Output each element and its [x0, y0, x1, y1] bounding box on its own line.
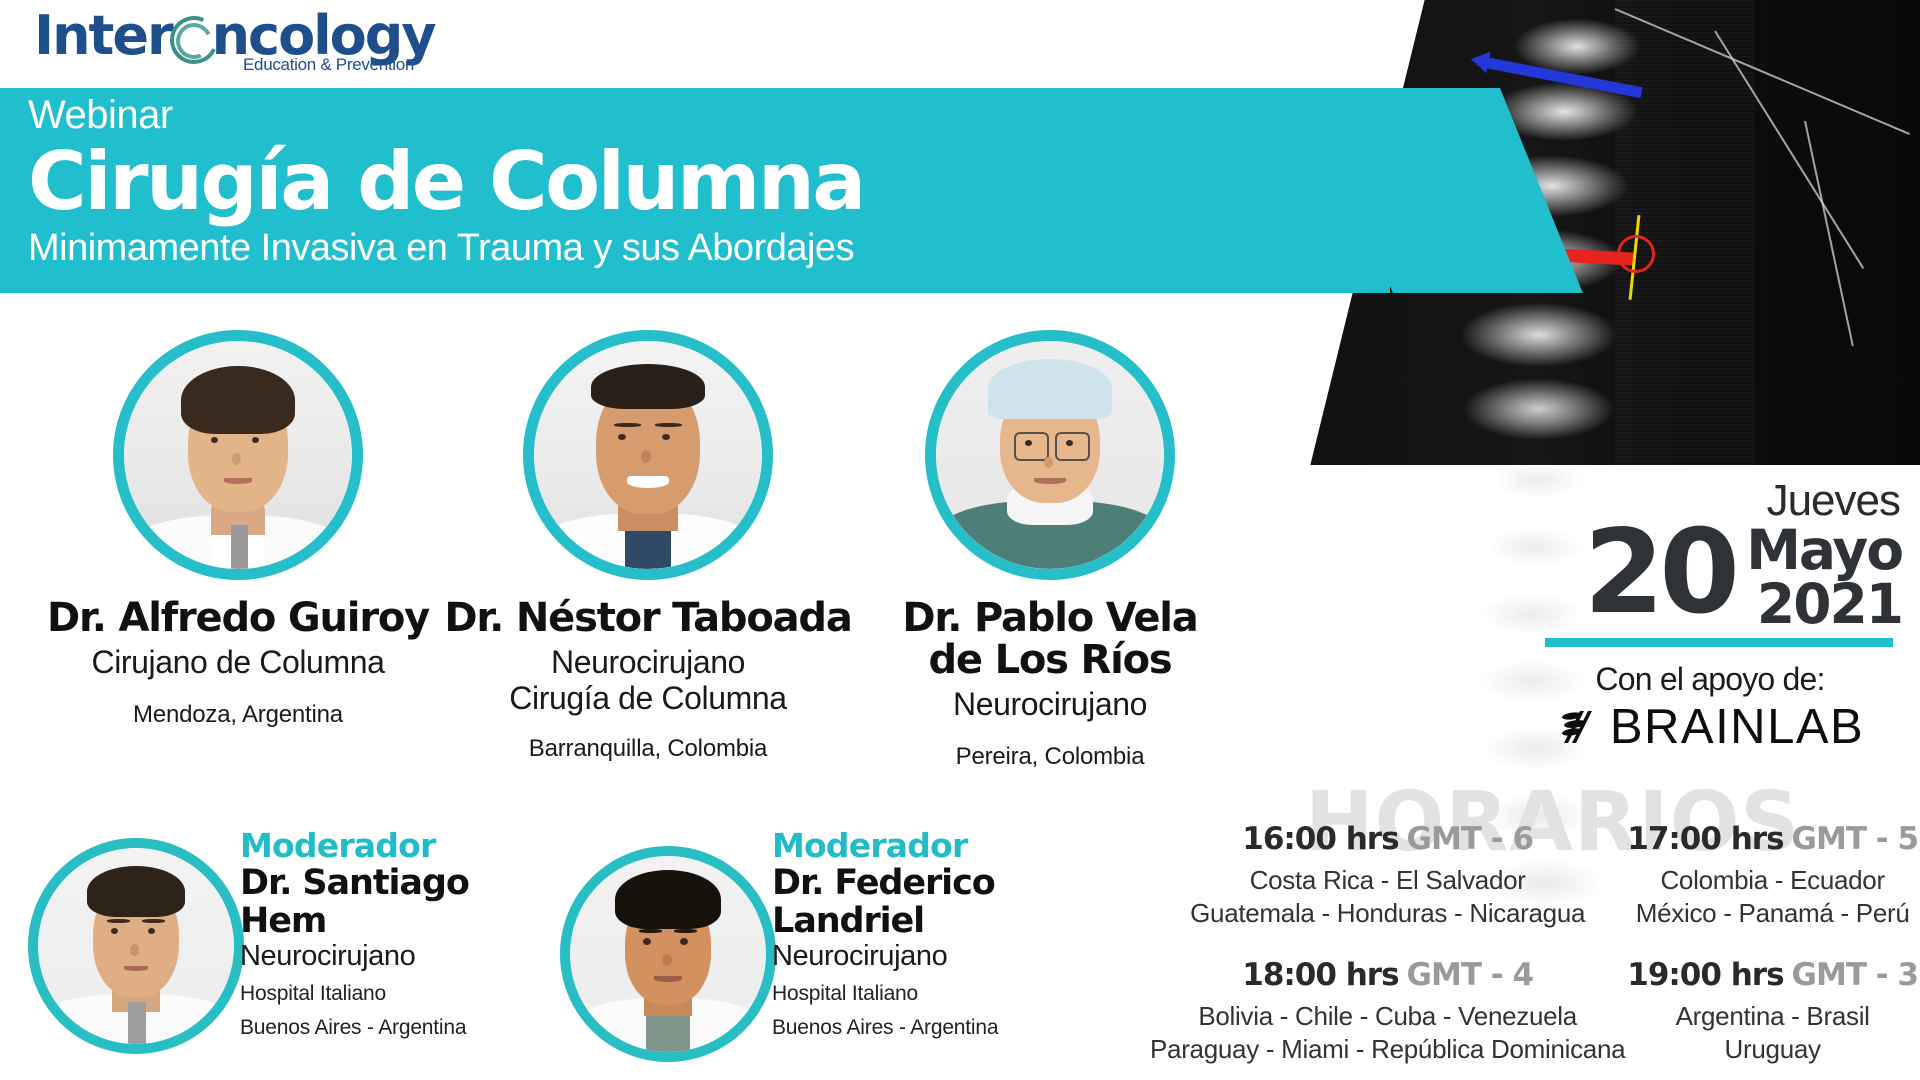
- schedule-countries-line1: Costa Rica - El Salvador: [1150, 864, 1625, 897]
- brainlab-mark-icon: [1556, 709, 1598, 745]
- schedule-time: 19:00 hrs: [1627, 957, 1783, 993]
- schedule-entry: 16:00 hrsGMT - 6 Costa Rica - El Salvado…: [1150, 820, 1625, 930]
- schedule-time: 16:00 hrs: [1242, 821, 1398, 857]
- schedule-countries-line1: Bolivia - Chile - Cuba - Venezuela: [1150, 1000, 1625, 1033]
- webinar-subtitle: Minimamente Invasiva en Trauma y sus Abo…: [28, 226, 864, 270]
- schedule-time-row: 16:00 hrsGMT - 6: [1150, 820, 1625, 864]
- schedule-countries-line2: Paraguay - Miami - República Dominicana: [1150, 1033, 1625, 1066]
- schedule-time-row: 19:00 hrsGMT - 3: [1625, 956, 1920, 1000]
- avatar-photo: [936, 341, 1164, 569]
- moderator-1-label: Moderador: [240, 828, 548, 864]
- moderator-1-name: Dr. Santiago Hem: [240, 864, 548, 940]
- speaker-card-2: Dr. Néstor Taboada Neurocirujano Cirugía…: [428, 330, 868, 763]
- schedule-grid: 16:00 hrsGMT - 6 Costa Rica - El Salvado…: [1150, 820, 1920, 1066]
- speaker-3-avatar: [925, 330, 1175, 580]
- speaker-3-role: Neurocirujano: [840, 687, 1260, 723]
- schedule-entry: 18:00 hrsGMT - 4 Bolivia - Chile - Cuba …: [1150, 956, 1625, 1066]
- brainlab-wordmark: BRAINLAB: [1610, 702, 1864, 752]
- schedule-time: 17:00 hrs: [1627, 821, 1783, 857]
- speaker-2-name: Dr. Néstor Taboada: [428, 597, 868, 639]
- moderator-1-hospital: Hospital Italiano: [240, 979, 548, 1009]
- speaker-3-name-line1: Dr. Pablo Vela: [840, 597, 1260, 639]
- speaker-2-role-2: Cirugía de Columna: [428, 681, 868, 717]
- sponsor-label: Con el apoyo de:: [1500, 660, 1920, 698]
- schedule-countries-line2: México - Panamá - Perú: [1625, 897, 1920, 930]
- logo-tagline: Education & Prevention: [243, 55, 414, 75]
- speaker-2-role-1: Neurocirujano: [428, 645, 868, 681]
- date-day: 20: [1584, 518, 1735, 628]
- moderator-1-avatar: [28, 838, 244, 1054]
- date-year: 2021: [1757, 576, 1902, 632]
- speaker-1-role: Cirujano de Columna: [18, 645, 458, 681]
- speaker-card-1: Dr. Alfredo Guiroy Cirujano de Columna M…: [18, 330, 458, 729]
- red-target-circle-icon: [1617, 235, 1655, 273]
- webinar-kicker: Webinar: [28, 92, 864, 138]
- webinar-poster: Interncology Education & Prevention Webi…: [0, 0, 1920, 1080]
- logo-text-inter: Inter: [34, 4, 172, 67]
- schedule-countries-line2: Uruguay: [1625, 1033, 1920, 1066]
- schedule-countries-line1: Colombia - Ecuador: [1625, 864, 1920, 897]
- schedule-entry: 17:00 hrsGMT - 5 Colombia - Ecuador Méxi…: [1625, 820, 1920, 930]
- schedule-countries-line2: Guatemala - Honduras - Nicaragua: [1150, 897, 1625, 930]
- schedule-time: 18:00 hrs: [1242, 957, 1398, 993]
- moderator-2-label: Moderador: [772, 828, 1100, 864]
- speaker-3-name-line2: de Los Ríos: [840, 639, 1260, 681]
- date-underline-rule: [1545, 638, 1893, 647]
- speaker-2-avatar: [523, 330, 773, 580]
- schedule-gmt: GMT - 6: [1407, 821, 1533, 857]
- speaker-3-city: Pereira, Colombia: [840, 743, 1260, 771]
- schedule-entry: 19:00 hrsGMT - 3 Argentina - Brasil Urug…: [1625, 956, 1920, 1066]
- moderator-1-role: Neurocirujano: [240, 940, 548, 973]
- moderator-2-hospital: Hospital Italiano: [772, 979, 1100, 1009]
- moderator-2-role: Neurocirujano: [772, 940, 1100, 973]
- speaker-card-3: Dr. Pablo Vela de Los Ríos Neurocirujano…: [840, 330, 1260, 771]
- event-date: Jueves 20 Mayo 2021: [1500, 478, 1920, 638]
- speaker-2-city: Barranquilla, Colombia: [428, 735, 868, 763]
- speaker-1-name: Dr. Alfredo Guiroy: [18, 597, 458, 639]
- moderator-2-avatar: [560, 846, 776, 1062]
- logo-o-ring-icon: [169, 15, 215, 61]
- moderator-1-location: Buenos Aires - Argentina: [240, 1013, 548, 1043]
- brainlab-logo: BRAINLAB: [1500, 702, 1920, 752]
- date-month: Mayo: [1746, 522, 1902, 578]
- moderator-card-1: Moderador Dr. Santiago Hem Neurocirujano…: [28, 828, 548, 1058]
- schedule-countries-line1: Argentina - Brasil: [1625, 1000, 1920, 1033]
- schedule-time-row: 17:00 hrsGMT - 5: [1625, 820, 1920, 864]
- moderator-2-name: Dr. Federico Landriel: [772, 864, 1100, 940]
- avatar-photo: [124, 341, 352, 569]
- moderator-2-location: Buenos Aires - Argentina: [772, 1013, 1100, 1043]
- avatar-photo: [38, 848, 234, 1044]
- moderator-card-2: Moderador Dr. Federico Landriel Neurocir…: [560, 828, 1100, 1058]
- title-banner-text: Webinar Cirugía de Columna Minimamente I…: [28, 92, 864, 270]
- schedule-gmt: GMT - 4: [1407, 957, 1533, 993]
- speaker-1-avatar: [113, 330, 363, 580]
- speaker-1-city: Mendoza, Argentina: [18, 701, 458, 729]
- avatar-photo: [534, 341, 762, 569]
- schedule-gmt: GMT - 3: [1792, 957, 1918, 993]
- schedule-time-row: 18:00 hrsGMT - 4: [1150, 956, 1625, 1000]
- schedule-gmt: GMT - 5: [1792, 821, 1918, 857]
- avatar-photo: [570, 856, 766, 1052]
- webinar-title: Cirugía de Columna: [28, 140, 864, 224]
- sponsor-section: Con el apoyo de: BRAINLAB: [1500, 660, 1920, 752]
